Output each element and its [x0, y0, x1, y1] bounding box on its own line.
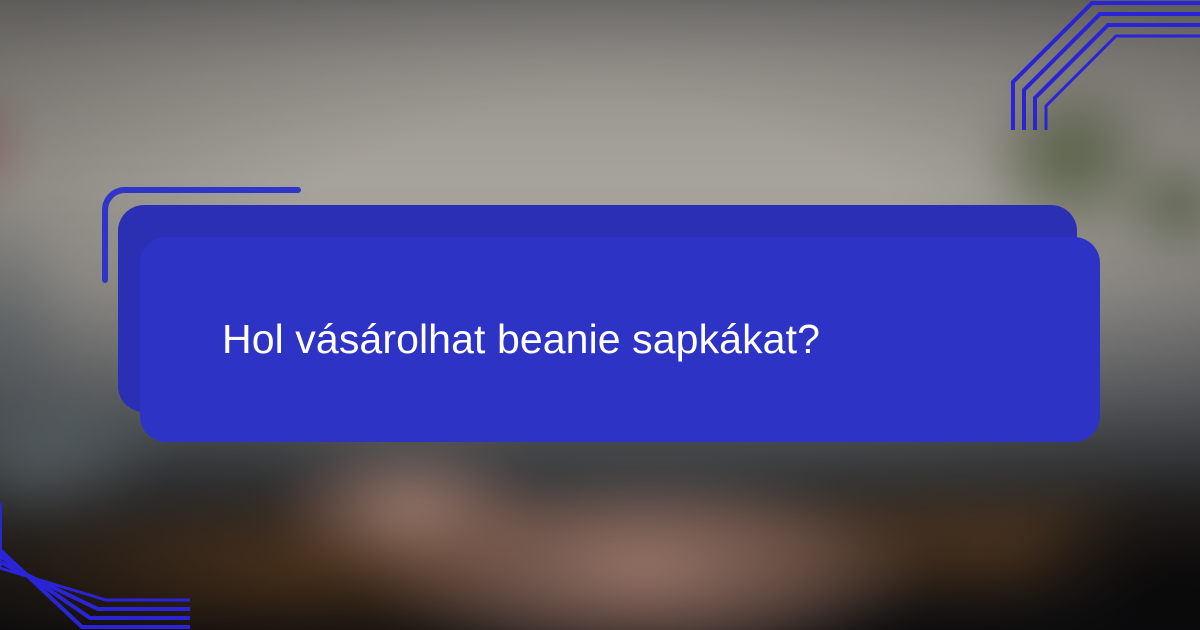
page-title: Hol vásárolhat beanie sapkákat?	[140, 314, 820, 365]
promo-banner: Hol vásárolhat beanie sapkákat?	[0, 0, 1200, 630]
headline-card-front: Hol vásárolhat beanie sapkákat?	[140, 237, 1100, 442]
